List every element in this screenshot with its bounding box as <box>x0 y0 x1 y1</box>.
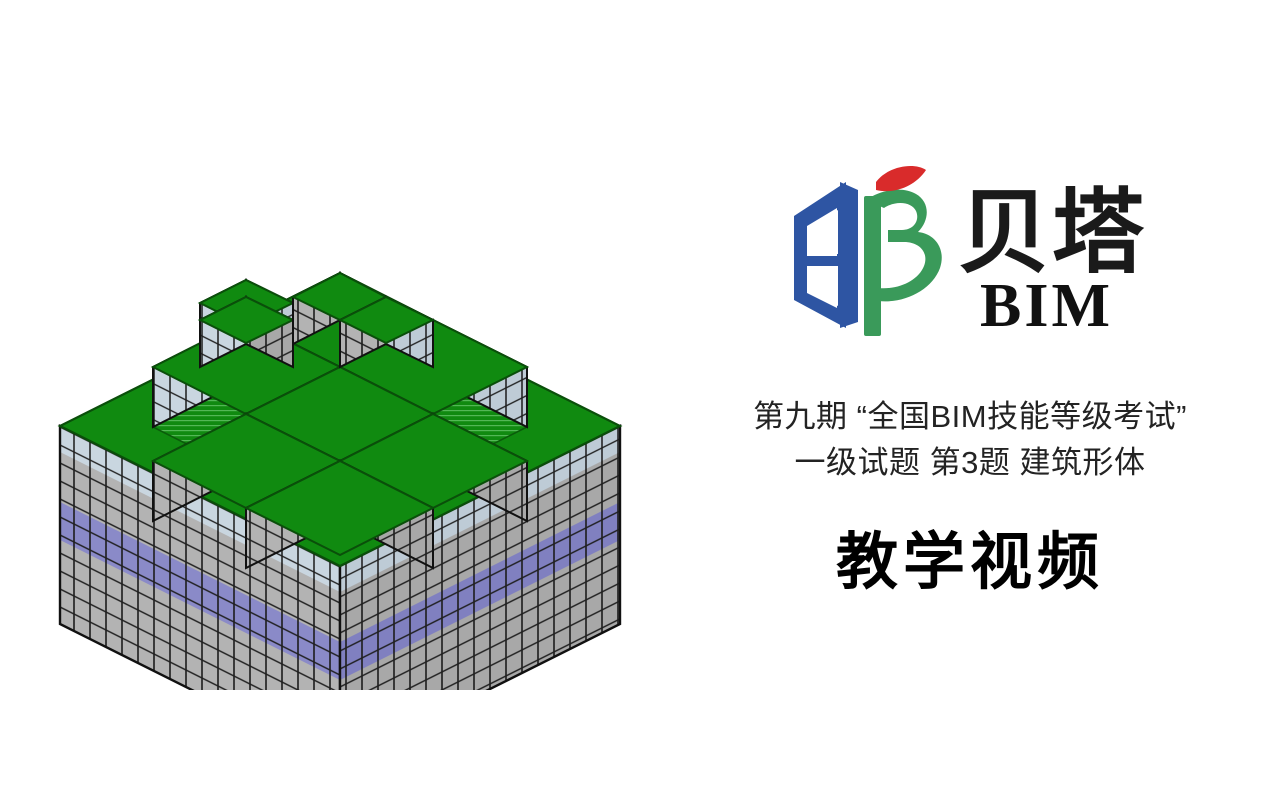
logo-wordmark-cn: 贝塔 <box>958 179 1146 286</box>
content-panel: 贝塔 BIM 第九期 “全国BIM技能等级考试” 一级试题 第3题 建筑形体 教… <box>660 0 1280 800</box>
brand-logo: 贝塔 BIM <box>660 160 1280 350</box>
logo-red-leaf-icon <box>876 166 926 191</box>
logo-green-b-icon <box>864 190 942 336</box>
exam-title-line: 第九期 “全国BIM技能等级考试” <box>660 394 1280 440</box>
logo-wordmark-en: BIM <box>980 272 1113 340</box>
headline-tutorial-video: 教学视频 <box>660 532 1280 594</box>
title-card-stage: 贝塔 BIM 第九期 “全国BIM技能等级考试” 一级试题 第3题 建筑形体 教… <box>0 0 1280 800</box>
building-model-panel <box>0 0 680 800</box>
title-block: 第九期 “全国BIM技能等级考试” 一级试题 第3题 建筑形体 <box>660 394 1280 486</box>
beita-bim-logo-icon: 贝塔 BIM <box>780 160 1160 350</box>
logo-blue-b-icon <box>794 182 858 328</box>
isometric-building-diagram <box>10 150 670 690</box>
exam-subtitle-line: 一级试题 第3题 建筑形体 <box>660 440 1280 486</box>
building-massing <box>60 273 620 690</box>
